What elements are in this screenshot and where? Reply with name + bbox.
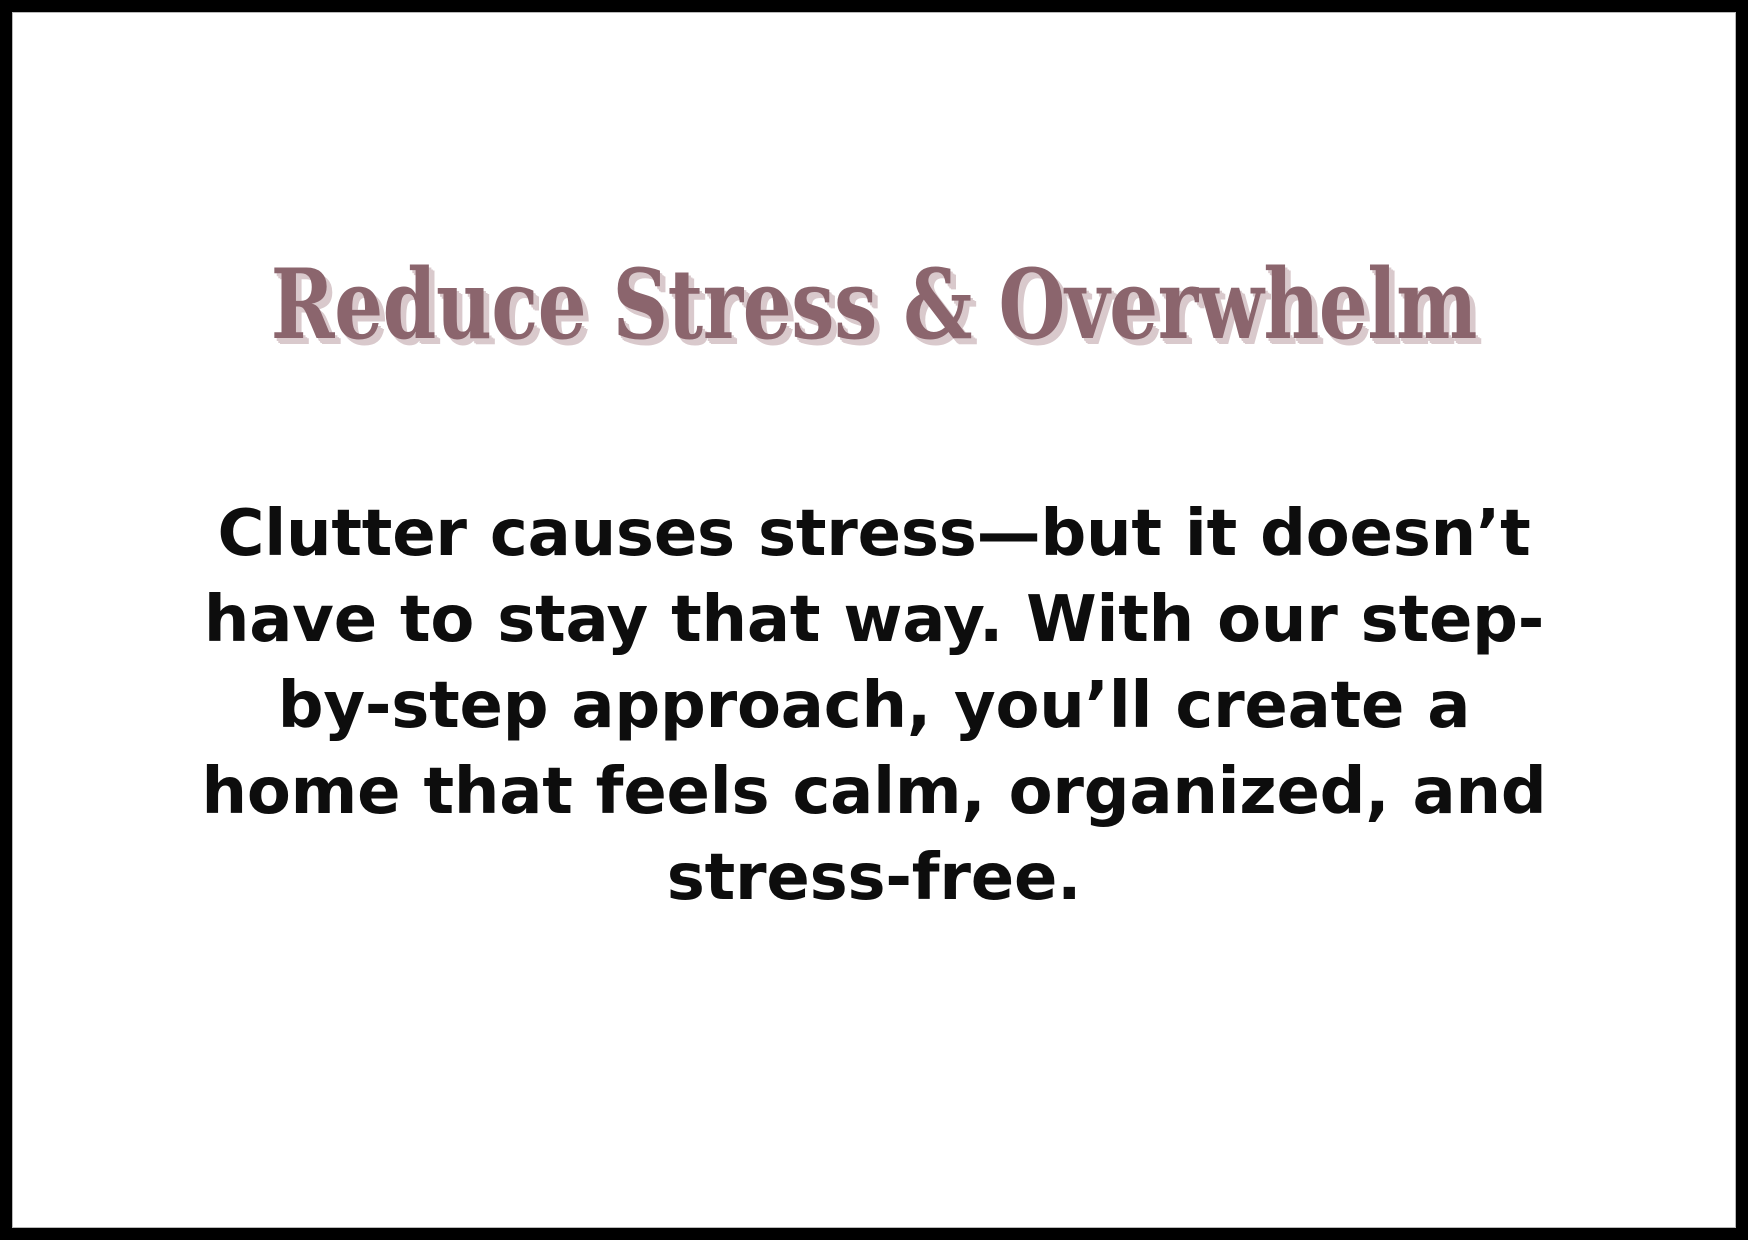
body-paragraph: Clutter causes stress—but it doesn’t hav… [179, 491, 1569, 921]
slide-outer-frame: Reduce Stress & Overwhelm Clutter causes… [0, 0, 1748, 1240]
page-title: Reduce Stress & Overwhelm [271, 253, 1477, 357]
slide-body-container: Clutter causes stress—but it doesn’t hav… [179, 491, 1569, 921]
slide-title-container: Reduce Stress & Overwhelm [13, 253, 1735, 357]
slide-canvas: Reduce Stress & Overwhelm Clutter causes… [12, 12, 1736, 1228]
